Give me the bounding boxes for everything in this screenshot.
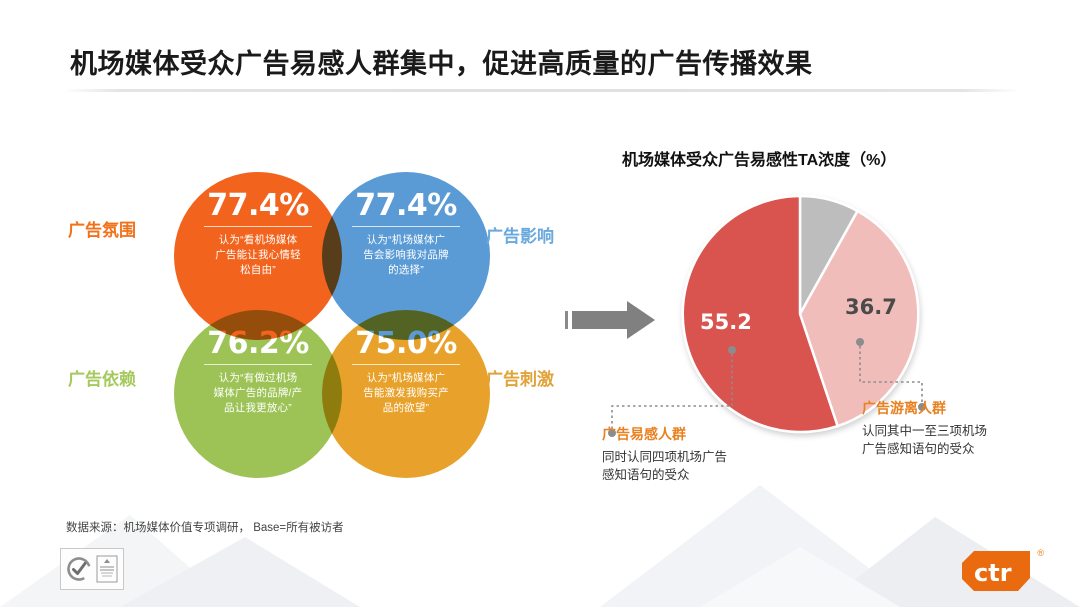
venn-caption: 认为“机场媒体广 告会影响我对品牌 的选择” bbox=[336, 233, 476, 278]
quality-mark-icon bbox=[96, 555, 118, 583]
venn-label-ad-stimulation: 广告刺激 bbox=[486, 365, 554, 390]
venn-label-ad-reliance: 广告依赖 bbox=[68, 365, 136, 390]
annotation-susceptible-audience: 广告易感人群 同时认同四项机场广告 感知语句的受众 bbox=[602, 424, 727, 484]
venn-divider bbox=[352, 226, 460, 227]
ctr-logo-mark: ctr bbox=[962, 548, 1034, 594]
ctr-logo: ctr ® bbox=[962, 548, 1046, 594]
chart-title: 机场媒体受众广告易感性TA浓度（%） bbox=[622, 146, 896, 170]
venn-caption-line: 认为“看机场媒体 bbox=[188, 233, 328, 248]
source-note: 数据来源：机场媒体价值专项调研， Base=所有被访者 bbox=[66, 519, 344, 535]
annotation-line: 感知语句的受众 bbox=[602, 466, 727, 484]
venn-divider bbox=[352, 364, 460, 365]
venn-caption-line: 认为“有做过机场 bbox=[188, 371, 328, 386]
venn-circle-ad-reliance[interactable]: 76.2% 认为“有做过机场 媒体广告的品牌/产 品让我更放心” bbox=[174, 310, 342, 478]
venn-caption-line: 的选择” bbox=[336, 263, 476, 278]
annotation-line: 广告感知语句的受众 bbox=[862, 440, 987, 458]
page-title: 机场媒体受众广告易感人群集中，促进高质量的广告传播效果 bbox=[70, 42, 813, 81]
venn-caption-line: 认为“机场媒体广 bbox=[336, 233, 476, 248]
venn-caption: 认为“看机场媒体 广告能让我心情轻 松自由” bbox=[188, 233, 328, 278]
venn-value: 76.2% bbox=[207, 326, 309, 361]
venn-caption-line: 广告能让我心情轻 bbox=[188, 248, 328, 263]
venn-caption-line: 品的欲望” bbox=[336, 401, 476, 416]
certification-badge bbox=[60, 548, 124, 590]
annotation-drifting-audience: 广告游离人群 认同其中一至三项机场 广告感知语句的受众 bbox=[862, 398, 987, 458]
venn-value: 75.0% bbox=[355, 326, 457, 361]
slide-canvas: 机场媒体受众广告易感人群集中，促进高质量的广告传播效果 77.4% 认为“看机场… bbox=[0, 0, 1080, 607]
venn-caption-line: 告会影响我对品牌 bbox=[336, 248, 476, 263]
venn-caption-line: 告能激发我购买产 bbox=[336, 386, 476, 401]
venn-caption-line: 媒体广告的品牌/产 bbox=[188, 386, 328, 401]
venn-divider bbox=[204, 226, 312, 227]
venn-caption: 认为“机场媒体广 告能激发我购买产 品的欲望” bbox=[336, 371, 476, 416]
venn-divider bbox=[204, 364, 312, 365]
check-circle-icon bbox=[66, 556, 92, 582]
venn-value: 77.4% bbox=[355, 188, 457, 223]
venn-caption-line: 认为“机场媒体广 bbox=[336, 371, 476, 386]
pie-value-drifting: 36.7 bbox=[845, 295, 897, 319]
svg-text:ctr: ctr bbox=[974, 559, 1012, 587]
annotation-title: 广告易感人群 bbox=[602, 424, 727, 444]
title-divider bbox=[62, 89, 1020, 92]
venn-caption-line: 品让我更放心” bbox=[188, 401, 328, 416]
venn-circle-ad-stimulation[interactable]: 75.0% 认为“机场媒体广 告能激发我购买产 品的欲望” bbox=[322, 310, 490, 478]
venn-label-ad-atmosphere: 广告氛围 bbox=[68, 216, 136, 241]
annotation-title: 广告游离人群 bbox=[862, 398, 987, 418]
venn-diagram: 77.4% 认为“看机场媒体 广告能让我心情轻 松自由” 77.4% 认为“机场… bbox=[150, 160, 520, 490]
annotation-line: 认同其中一至三项机场 bbox=[862, 422, 987, 440]
venn-value: 77.4% bbox=[207, 188, 309, 223]
venn-caption: 认为“有做过机场 媒体广告的品牌/产 品让我更放心” bbox=[188, 371, 328, 416]
registered-mark: ® bbox=[1037, 548, 1044, 558]
venn-label-ad-influence: 广告影响 bbox=[486, 222, 554, 247]
annotation-line: 同时认同四项机场广告 bbox=[602, 448, 727, 466]
pie-value-susceptible: 55.2 bbox=[700, 310, 752, 334]
venn-caption-line: 松自由” bbox=[188, 263, 328, 278]
